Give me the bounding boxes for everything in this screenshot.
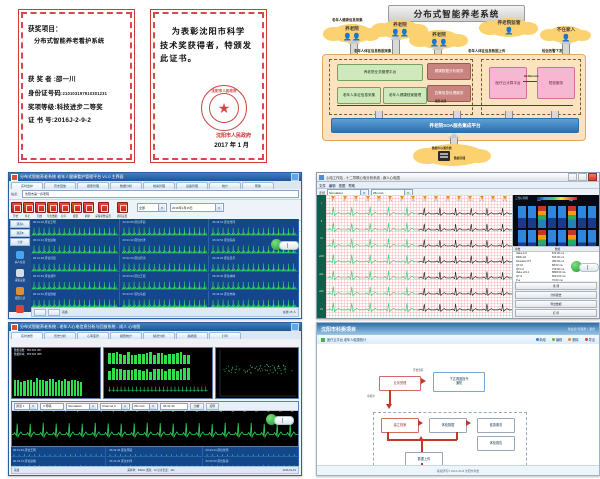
tile-label: 06:34:14 床位张伟: [206, 448, 229, 452]
tab-records[interactable]: 档案管理: [143, 182, 175, 189]
win2-menubar[interactable]: 文件 编辑 视图 帮助: [317, 182, 599, 189]
params-icon: [98, 202, 109, 213]
alarm-log-icon: [16, 287, 24, 295]
soa-bus-bar: 养老院SOA服务集成平台: [331, 118, 579, 133]
box-medical-cloud: 医疗云计算平台: [489, 67, 527, 99]
win2-buttons[interactable]: 重 测 分析报告 导出数据 打 印: [513, 281, 599, 318]
waveform-tile[interactable]: 06:33:44 床位王霞: [121, 273, 210, 290]
app-icon: [11, 174, 18, 181]
win1-date-combo[interactable]: 2016年1月15日▾: [170, 203, 224, 212]
waveform-tile[interactable]: 06:34:04 床位朱琳: [210, 291, 299, 308]
cert-level-value: :科技进步二等奖: [54, 104, 102, 111]
beat-marker: N 4: [362, 196, 372, 202]
win1-path-input[interactable]: 沈阳市第一养老院: [22, 190, 299, 198]
win4-header-title: 沈阳市科委项目: [321, 326, 356, 333]
beat-marker: N 6: [385, 196, 395, 202]
chevron-down-icon: ▾: [158, 204, 165, 211]
seal-caption: 沈阳市人民政府: [216, 132, 251, 139]
box-alarm-service: 告警信息处理服务: [427, 85, 471, 102]
cert-id-label: 身份证号码: [28, 90, 61, 97]
action-add[interactable]: 新增: [536, 337, 546, 342]
tab-stats[interactable]: 统计: [209, 182, 241, 189]
beat-marker: N 15: [488, 196, 498, 202]
waveform-tile[interactable]: 06:33:14 床位张伟: [210, 219, 299, 236]
bars-left: [14, 378, 82, 396]
status-box-1: [34, 309, 46, 316]
win1-toolbar[interactable]: 开始 停止 回放 导出数据 打印 报警 刷新 采集参数设置 通道设置 全部▾ 2…: [9, 200, 301, 221]
scatter-plot: [216, 348, 298, 398]
toolbar-print[interactable]: 打印: [59, 202, 68, 218]
beat-marker: N 2: [339, 196, 349, 202]
beat-marker: N 14: [477, 196, 487, 202]
cert-no-value: :2016J-2-9-2: [52, 117, 91, 124]
waveform-tile[interactable]: 06:34:14 床位张伟: [204, 447, 299, 457]
tile-waveform: [32, 262, 118, 272]
cloud-label: 养老院: [332, 26, 372, 32]
beat-marker: N 1: [328, 196, 338, 202]
win1-tabs[interactable]: 实时监护 历史回放 报警管理 数据分析 档案管理 设备管理 统计 帮助: [9, 181, 301, 189]
win1-status-left: 就绪: [62, 310, 68, 314]
edit-icon: [552, 338, 555, 341]
tile-label: 06:34:04 床位朱琳: [212, 292, 235, 296]
bar: [55, 382, 57, 396]
win2-right-panel: 三维标测图 Low High 参数 数值 Value 1/2872.00 msR…: [512, 195, 599, 318]
bar: [49, 379, 51, 396]
server-cloud-label: 数据中心服务器: [432, 146, 452, 150]
cloud-label: 不在家人: [548, 27, 584, 33]
btn-export[interactable]: 导出数据: [515, 300, 597, 308]
flow-box-health-service[interactable]: 健康服务: [477, 418, 515, 433]
sidebar-fullscreen[interactable]: 全屏: [10, 238, 30, 246]
strip-analyze-button[interactable]: 分析: [190, 403, 204, 410]
beat-label: N 6: [389, 200, 392, 202]
win2-titlebar[interactable]: 心电工作站 - 十二导联心电分析系统 - 病人心电图: [317, 173, 599, 182]
bar: [180, 369, 183, 380]
flow-box-dispatch[interactable]: 下达调度指令 通知: [433, 372, 485, 392]
heatmap-cell: [528, 230, 536, 246]
edge-label-collect: 老年人体征信息数据采集: [354, 48, 391, 53]
win3-window-buttons[interactable]: [291, 323, 299, 331]
bar: [172, 369, 175, 380]
beat-marker: N 3: [351, 196, 361, 202]
cloud-monitor-icon: 👤: [488, 28, 530, 35]
seal-star-icon: ★: [218, 101, 231, 115]
btn-remeasure[interactable]: 重 测: [515, 282, 597, 290]
win3-title: 分布式智能养老系统 - 老年人心电信息分析与回放系统 - 成人 心电图: [20, 324, 140, 330]
patient-icon: [16, 251, 24, 259]
beat-label: N 2: [343, 200, 346, 202]
breadcrumb-icon: [321, 338, 325, 342]
tab-analysis[interactable]: 数据分析: [110, 182, 142, 189]
toolbar-playback[interactable]: 回放: [35, 202, 44, 218]
heatmap-cell: [538, 206, 546, 228]
cert-no-row: 证 书 号:2016J-2-9-2: [28, 117, 125, 126]
bar: [14, 380, 16, 396]
strip-print-button[interactable]: 打印: [206, 403, 220, 410]
beat-marker: N 13: [465, 196, 475, 202]
bar: [146, 353, 149, 364]
waveform-tile[interactable]: 06:31:13 床位赵敏: [31, 237, 120, 254]
lead-label: aVR: [317, 248, 326, 266]
certificates-panel: 获奖项目： 分布式智能养老看护系统 获 奖 者 :邵一川 身份证号码:21010…: [0, 0, 305, 168]
strip-channel-combo[interactable]: 通道 1▾: [14, 403, 38, 410]
row-key: P-a: [513, 279, 552, 281]
waveform-tile[interactable]: 06:31:38 床位孙强: [31, 255, 120, 272]
tab-realtime[interactable]: 实时监护: [11, 182, 43, 189]
playback-icon: [35, 202, 46, 213]
beat-label: N 12: [457, 200, 462, 202]
tab-history[interactable]: 历史分析: [44, 332, 76, 339]
cert-winner-label: 获 奖 者 :: [28, 76, 56, 83]
heatmap-cell: [548, 206, 556, 228]
cloud-nursing-home-1: 养老院 👤👤: [332, 24, 372, 43]
bar: [168, 369, 171, 380]
win2-main: IIIIIIaVRaVLaVFV1 N 1N 2N 3N 4N 5N 6N 7N…: [317, 195, 599, 318]
window-ecg-analysis[interactable]: 分布式智能养老系统 - 老年人心电信息分析与回放系统 - 成人 心电图 实时波形…: [8, 322, 302, 476]
win2-window-buttons[interactable]: [567, 173, 597, 182]
bar: [134, 369, 137, 380]
bar: [119, 369, 122, 380]
tab-live-wave[interactable]: 实时波形: [11, 332, 43, 339]
bar: [108, 353, 111, 364]
tile-label: 06:30:51 床位陈静: [212, 238, 235, 242]
win3-status-right: 2016-01-15: [283, 469, 296, 472]
flow-arrow-3: [418, 420, 423, 426]
toolbar-start[interactable]: 开始: [11, 202, 20, 218]
tile-waveform: [32, 226, 118, 236]
flow-arrow-1: [421, 378, 426, 384]
win3-strip-panel[interactable]: 通道 1▾ II 导联 Simulation▾ Channel A▾ 25mm/…: [11, 401, 299, 447]
flow-box-exam-data[interactable]: 体检数据: [429, 418, 467, 433]
window-ecg-monitor[interactable]: 分布式智能养老系统 老年人健康看护管理平台 V1.0 主界面 实时监护 历史回放…: [8, 172, 302, 319]
status-box-2: [48, 309, 60, 316]
tile-label: 06:34:10 床位刘洋: [123, 238, 146, 242]
waveform-tile[interactable]: 06:31:26 床位李丽: [107, 447, 202, 457]
bar: [36, 378, 38, 396]
win4-header-right[interactable]: 欢迎您 管理员 | 退出: [568, 327, 595, 331]
lead-label: V1: [317, 300, 326, 318]
bar: [131, 355, 134, 364]
sidebar-patient-info[interactable]: 病人信息: [9, 251, 31, 264]
lead-label: aVF: [317, 283, 326, 301]
watermark-pill-2: [571, 261, 597, 272]
heatmap-row-1: [518, 206, 596, 228]
menu-view[interactable]: 视图: [339, 183, 346, 188]
tab-alarm-stats[interactable]: 报警统计: [110, 332, 142, 339]
chevron-down-icon: ▾: [29, 404, 36, 409]
flow-arrow-2: [386, 404, 392, 409]
menu-edit[interactable]: 编辑: [329, 183, 336, 188]
heatmap-cell: [568, 206, 576, 228]
win1-title: 分布式智能养老系统 老年人健康看护管理平台 V1.0 主界面: [20, 174, 124, 180]
bar: [138, 354, 141, 364]
win3-note: 数据总数：853 821 387 数据样本：853 821 385: [14, 349, 41, 357]
flow-down-label: 审核中: [367, 394, 375, 398]
arrow-bus-1: [375, 111, 383, 118]
heatmap-cell: [568, 230, 576, 246]
bar: [45, 381, 47, 396]
cert-project-label: 获奖项目：: [28, 26, 125, 35]
tile-label: 06:33:44 床位王霞: [123, 274, 146, 278]
tile-waveform: [32, 244, 118, 254]
win1-titlebar[interactable]: 分布式智能养老系统 老年人健康看护管理平台 V1.0 主界面: [9, 173, 301, 181]
bar: [61, 381, 63, 396]
strip-speed-combo[interactable]: 25mm/s▾: [132, 403, 158, 410]
window-12lead-ecg[interactable]: 心电工作站 - 十二导联心电分析系统 - 病人心电图 文件 编辑 视图 帮助 走…: [316, 172, 600, 319]
cert-level-label: 奖项等级: [28, 104, 54, 111]
bar: [108, 371, 111, 380]
cloud-phone-icon: 👤: [548, 35, 584, 42]
waveform-tile[interactable]: 06:32:13 床位周涛: [121, 255, 210, 272]
flow-box-exam-report[interactable]: 体检报告: [477, 436, 515, 451]
tab-help[interactable]: 帮助: [242, 182, 274, 189]
certificate-right: 为表彰沈阳市科学 技术奖获得者，特颁发 此证书。 沈阳市人民政府 ★ 沈阳市人民…: [150, 9, 267, 163]
edge-label-upload: 老年人体征信息数据上传: [468, 48, 505, 53]
bar: [146, 369, 149, 380]
tile-waveform: [211, 226, 297, 236]
box-vitals-collect: 老年人体征信息采集: [337, 87, 381, 104]
bar: [131, 370, 134, 380]
bar: [153, 369, 156, 380]
tile-label: 06:31:46 床位王明: [33, 220, 56, 224]
service-bus-label: 服务总线: [435, 99, 446, 103]
cloud-data-center: 数据中心服务器 数据存储: [422, 144, 484, 166]
bar: [20, 382, 22, 396]
tile-waveform: [122, 262, 208, 272]
mini-trace: [108, 382, 208, 396]
tab-trend[interactable]: 趋势图: [176, 332, 208, 339]
beat-label: N 5: [377, 200, 380, 202]
heatmap-cell: [578, 206, 586, 228]
tab-spectrum[interactable]: 频谱分析: [143, 332, 175, 339]
bar: [134, 355, 137, 364]
app-icon: [319, 175, 324, 180]
bar: [187, 355, 190, 364]
cert-text-line1: 为表彰沈阳市科学: [160, 25, 257, 39]
win2-measure-table: 参数 数值 Value 1/2872.00 msRRD-1/2526.00 ms…: [513, 246, 599, 281]
tab-print[interactable]: 打印: [209, 332, 241, 339]
flow-box-start[interactable]: 业务受理: [379, 376, 421, 391]
waveform-tile[interactable]: 06:33:26 床位吴芳: [210, 255, 299, 272]
bar: [161, 369, 164, 380]
sidebar-channel-a[interactable]: 通道A: [10, 220, 30, 228]
tile-label: 06:31:46 床位王明: [13, 448, 36, 452]
th-value: 数值: [553, 247, 562, 251]
tab-playback[interactable]: 历史回放: [44, 182, 76, 189]
win3-titlebar[interactable]: 分布式智能养老系统 - 老年人心电信息分析与回放系统 - 成人 心电图: [9, 323, 301, 331]
device-icon: [16, 269, 24, 277]
win1-waveform-grid[interactable]: 06:31:46 床位王明06:32:08 床位李丽06:33:14 床位张伟0…: [31, 219, 299, 308]
waveform-tile[interactable]: 06:31:32 床位徐斌: [31, 291, 120, 308]
cert-id-value: :210103197910301231: [61, 91, 107, 96]
ecg-alarm-icon: [16, 305, 24, 313]
bar: [39, 380, 41, 396]
win1-window-buttons[interactable]: [291, 173, 299, 181]
btn-print[interactable]: 打 印: [515, 309, 597, 317]
tab-devices[interactable]: 设备管理: [176, 182, 208, 189]
tab-alarms[interactable]: 报警管理: [77, 182, 109, 189]
toolbar-refresh[interactable]: 刷新: [83, 202, 92, 218]
cert-project-name: 分布式智能养老看护系统: [28, 38, 125, 46]
win3-tabs[interactable]: 实时波形 历史分析 心率变异 报警统计 频谱分析 趋势图 打印: [9, 331, 301, 339]
sidebar-channel-b[interactable]: 通道B: [10, 229, 30, 237]
beat-label: N 13: [468, 200, 473, 202]
beat-marker: N 11: [442, 196, 452, 202]
ecg-traces: [326, 204, 512, 318]
win3-tile-grid[interactable]: 06:31:46 床位王明06:31:26 床位李丽06:34:14 床位张伟0…: [11, 447, 299, 467]
toolbar-channels[interactable]: 通道设置: [114, 202, 130, 218]
bar: [138, 370, 141, 380]
action-edit[interactable]: 编辑: [552, 337, 562, 342]
cloud-nursing-home-2: 养老院 👤👤: [380, 20, 420, 39]
bar: [17, 380, 19, 396]
bars-mid-bottom: [108, 368, 190, 380]
lead-label: III: [317, 230, 326, 248]
bar: [64, 379, 66, 396]
toolbar-params[interactable]: 采集参数设置: [95, 202, 111, 218]
beat-label: N 15: [491, 200, 496, 202]
beat-marker: N 7: [397, 196, 407, 202]
waveform-tile[interactable]: 06:31:50 床位郑华: [31, 273, 120, 290]
tile-waveform: [211, 262, 297, 272]
heatmap-cell: [518, 206, 526, 228]
win4-flow-canvas[interactable]: 开始流程 业务受理 下达调度指令 通知 审核中 建立档案 体检数据 健康服务 体…: [317, 344, 599, 466]
beat-marker: N 16: [500, 196, 510, 202]
strip-gain-combo[interactable]: Simulation▾: [66, 403, 98, 410]
toolbar-stop[interactable]: 停止: [23, 202, 32, 218]
flow-box-archive[interactable]: 建立档案: [381, 418, 419, 433]
colorbar-min: Low: [537, 200, 541, 202]
tile-label: 06:32:13 床位周涛: [123, 256, 146, 260]
beat-marker: N 5: [374, 196, 384, 202]
bar: [23, 381, 25, 396]
export-icon: [585, 338, 588, 341]
waveform-tile[interactable]: 06:31:46 床位王明: [31, 219, 120, 236]
toolbar-alarm[interactable]: 报警: [71, 202, 80, 218]
btn-report[interactable]: 分析报告: [515, 291, 597, 299]
export-icon: [47, 202, 58, 213]
win1-status-right: 在线 15 人: [283, 310, 296, 314]
strip-filter-combo[interactable]: Channel A▾: [100, 403, 130, 410]
tile-label: 06:33:40 床位林峰: [212, 274, 235, 278]
window-cloud-platform[interactable]: 沈阳市科委项目 欢迎您 管理员 | 退出 医疗云平台 老年人健康统计 新增 编辑…: [316, 322, 600, 476]
win1-filter-combo[interactable]: 全部▾: [137, 203, 167, 212]
bar: [119, 354, 122, 364]
bar: [112, 353, 115, 364]
action-delete[interactable]: 删除: [568, 337, 578, 342]
win2-ecg-area[interactable]: IIIIIIaVRaVLaVFV1 N 1N 2N 3N 4N 5N 6N 7N…: [317, 195, 512, 318]
tile-label: 06:31:26 床位李丽: [109, 448, 132, 452]
flow-line-d: [421, 439, 423, 453]
chevron-down-icon: ▾: [215, 204, 222, 211]
beat-label: N 10: [434, 200, 439, 202]
waveform-tile[interactable]: 06:33:37 床位马超: [121, 291, 210, 308]
edge-label-alert: 短信告警下发: [542, 48, 562, 53]
win3-strip-toolbar[interactable]: 通道 1▾ II 导联 Simulation▾ Channel A▾ 25mm/…: [12, 402, 298, 411]
win4-header: 沈阳市科委项目 欢迎您 管理员 | 退出: [317, 323, 599, 335]
official-seal: 沈阳市人民政府 ★: [201, 85, 247, 131]
cloud-people-icon: 👤👤: [380, 30, 420, 37]
action-export[interactable]: 导出: [585, 337, 595, 342]
strip-lead-field[interactable]: II 导联: [40, 403, 64, 410]
sidebar-alarm-log[interactable]: 报警记录: [9, 287, 31, 300]
cert-text-line3: 此证书。: [160, 52, 257, 66]
tile-label: 06:31:13 床位赵敏: [33, 238, 56, 242]
bar: [74, 380, 76, 396]
cert-winner-name: 邵一川: [56, 76, 76, 83]
bar: [168, 354, 171, 364]
cloud-supervision: 养老院监管 👤: [488, 18, 530, 37]
chevron-down-icon: ▾: [121, 404, 128, 409]
diagram-body: 养老院业务管理平台 老年人体征信息采集 老年人健康档案管理 健康数据分析服务 告…: [322, 54, 586, 141]
sidebar-device[interactable]: 采集设备: [9, 269, 31, 282]
bar: [183, 355, 186, 364]
heatmap-row-2: [518, 230, 596, 246]
tile-label: 06:33:14 床位张伟: [212, 220, 235, 224]
win4-actions[interactable]: 新增 编辑 删除 导出: [536, 337, 596, 342]
heatmap-panel: 三维标测图 Low High: [513, 195, 599, 246]
beat-label: N 7: [400, 200, 403, 202]
cert-winner-row: 获 奖 者 :邵一川: [28, 76, 125, 85]
tab-hrv[interactable]: 心率变异: [77, 332, 109, 339]
tile-label: 06:31:32 床位徐斌: [33, 292, 56, 296]
bar: [164, 355, 167, 364]
sidebar-ecg-alarm[interactable]: 心电图报警: [9, 305, 31, 318]
bar: [67, 381, 69, 396]
delete-icon: [568, 338, 571, 341]
arrow-bus-3: [505, 111, 513, 118]
stop-icon: [23, 202, 34, 213]
strip-time-field[interactable]: 06:31:46: [160, 403, 188, 410]
bar: [127, 352, 130, 364]
waveform-tile[interactable]: 06:32:08 床位李丽: [121, 219, 210, 236]
bar: [153, 355, 156, 364]
tile-waveform: [122, 280, 208, 290]
menu-file[interactable]: 文件: [319, 183, 326, 188]
heatmap-cell: [528, 206, 536, 228]
win2-title: 心电工作站 - 十二导联心电分析系统 - 病人心电图: [326, 175, 400, 180]
bar: [77, 381, 79, 396]
beat-label: N 8: [412, 200, 415, 202]
channels-icon: [117, 202, 128, 213]
bar: [149, 352, 152, 364]
beat-label: N 11: [445, 200, 449, 202]
win1-sidebar[interactable]: 通道A 通道B 全屏 病人信息 采集设备 报警记录 心电图报警: [9, 219, 31, 312]
bar: [149, 372, 152, 380]
waveform-tile[interactable]: 06:33:40 床位林峰: [210, 273, 299, 290]
arrow-bus-2: [453, 111, 461, 118]
waveform-tile[interactable]: 06:34:10 床位刘洋: [121, 237, 210, 254]
panel-histogram-mid: [103, 347, 213, 399]
waveform-tile[interactable]: 06:31:46 床位王明: [11, 447, 106, 457]
lead-label: aVL: [317, 265, 326, 283]
cloud-people-icon: 👤👤: [332, 34, 372, 41]
breadcrumb[interactable]: 医疗云平台 老年人健康统计: [321, 337, 366, 342]
bar: [176, 371, 179, 380]
bar: [161, 353, 164, 364]
watermark-pill-1: [271, 239, 297, 250]
toolbar-export[interactable]: 导出数据: [47, 202, 56, 218]
screenshot-root: 获奖项目： 分布式智能养老看护系统 获 奖 者 :邵一川 身份证号码:21010…: [0, 0, 600, 479]
cert-date: 2017 年 1 月: [214, 140, 249, 149]
box-analysis-service: 健康数据分析服务: [427, 63, 471, 80]
strip-waveform: [12, 417, 298, 445]
tile-label: 06:32:08 床位李丽: [123, 220, 146, 224]
menu-help[interactable]: 帮助: [348, 183, 355, 188]
cloud-label: 养老院: [418, 32, 460, 38]
bar: [180, 352, 183, 364]
bar: [116, 352, 119, 364]
